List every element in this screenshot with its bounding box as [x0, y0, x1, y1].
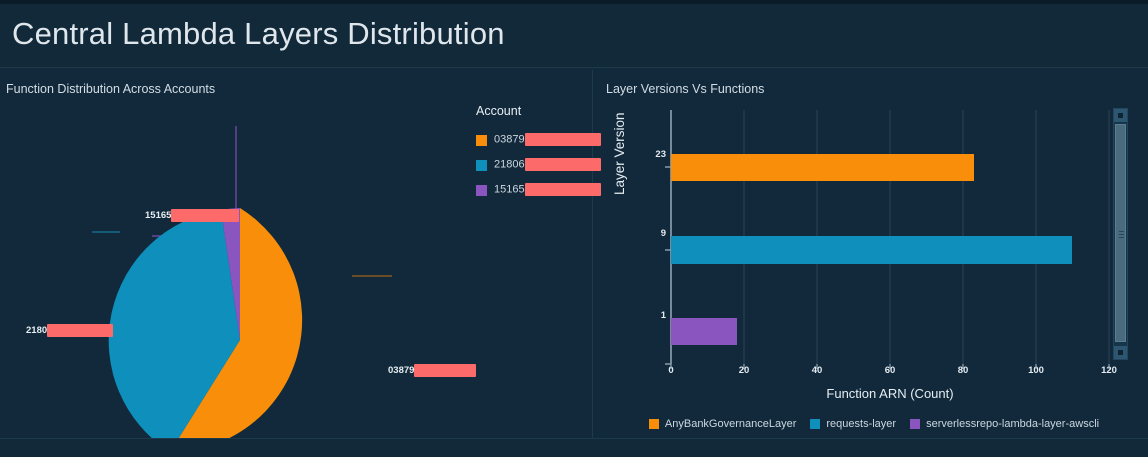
redaction-bar: [525, 158, 601, 171]
legend-swatch-icon: [910, 419, 920, 429]
scrollbar-thumb[interactable]: [1115, 124, 1126, 342]
scroll-up-arrow-icon[interactable]: [1114, 109, 1127, 122]
dashboard-page: Central Lambda Layers Distribution Funct…: [0, 0, 1148, 457]
redaction-bar: [525, 183, 601, 196]
pie-label-03879: 03879: [388, 364, 476, 377]
legend-swatch-icon: [476, 160, 487, 171]
bar-panel-title: Layer Versions Vs Functions: [606, 82, 764, 96]
pie-panel-title: Function Distribution Across Accounts: [6, 82, 215, 96]
pie-legend-item-03879[interactable]: 03879: [476, 133, 592, 147]
bar-AnyBankGovernanceLayer[interactable]: [671, 154, 974, 181]
bar-legend-item-serverlessrepo[interactable]: serverlessrepo-lambda-layer-awscli: [910, 418, 1099, 430]
dashboard-header: Central Lambda Layers Distribution: [0, 4, 1148, 68]
bar-legend-item-anybankgovernancelayer[interactable]: AnyBankGovernanceLayer: [649, 418, 796, 430]
bar-requests-layer[interactable]: [671, 236, 1072, 264]
bar-chart-svg[interactable]: [592, 96, 1148, 438]
pie-legend-label: 21806: [494, 158, 601, 171]
redaction-bar: [525, 133, 601, 146]
redaction-bar: [171, 209, 239, 222]
scroll-down-arrow-icon[interactable]: [1114, 346, 1127, 359]
scrollbar-grip-icon: [1119, 231, 1124, 238]
bar-legend-label: AnyBankGovernanceLayer: [665, 418, 796, 430]
legend-swatch-icon: [810, 419, 820, 429]
bar-legend: AnyBankGovernanceLayer requests-layer se…: [600, 418, 1148, 430]
pie-legend: Account 03879 21806 15165: [476, 104, 592, 208]
legend-swatch-icon: [649, 419, 659, 429]
pie-legend-item-21806[interactable]: 21806: [476, 158, 592, 172]
pie-legend-label: 03879: [494, 133, 601, 146]
legend-swatch-icon: [476, 185, 487, 196]
page-title: Central Lambda Layers Distribution: [12, 16, 505, 52]
pie-label-15165: 15165: [145, 209, 239, 222]
footer-band: [0, 439, 1148, 457]
bar-legend-label: requests-layer: [826, 418, 896, 430]
bar-legend-item-requests-layer[interactable]: requests-layer: [810, 418, 896, 430]
vertical-scrollbar[interactable]: [1113, 108, 1128, 360]
pie-legend-label: 15165: [494, 183, 601, 196]
bar-legend-label: serverlessrepo-lambda-layer-awscli: [926, 418, 1099, 430]
redaction-bar: [47, 324, 113, 337]
legend-swatch-icon: [476, 135, 487, 146]
pie-label-21806: 2180: [26, 324, 113, 337]
bar-chart-widget: [592, 96, 1148, 438]
pie-legend-item-15165[interactable]: 15165: [476, 183, 592, 197]
bar-serverlessrepo-lambda-layer-awscli[interactable]: [671, 318, 737, 345]
pie-legend-title: Account: [476, 104, 592, 118]
redaction-bar: [414, 364, 476, 377]
